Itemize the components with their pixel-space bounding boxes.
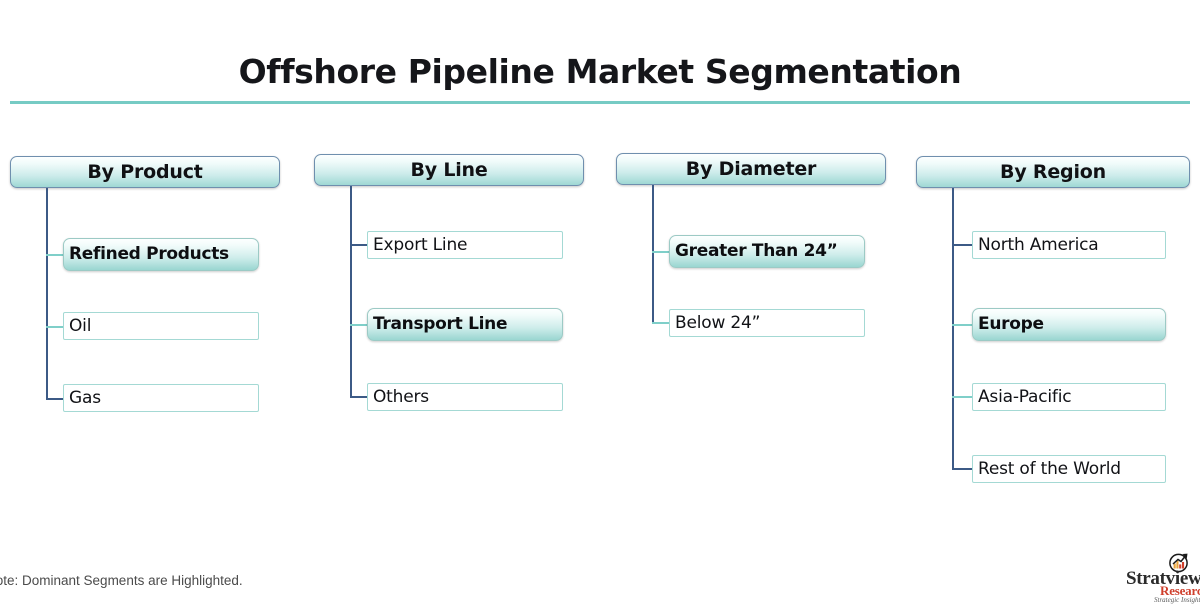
segment-item-label: Others xyxy=(368,389,429,406)
segmentation-column-by-region: By Region North America Europe Asia-Paci… xyxy=(906,0,1200,600)
branch-connector xyxy=(46,398,64,400)
segmentation-column-by-diameter: By Diameter Greater Than 24” Below 24” xyxy=(606,0,906,600)
column-header-label: By Line xyxy=(410,161,487,180)
segment-item-rest-of-the-world[interactable]: Rest of the World xyxy=(972,455,1166,483)
segment-item-label: Asia-Pacific xyxy=(973,389,1071,406)
branch-connector xyxy=(652,251,670,253)
branch-connector xyxy=(952,244,972,246)
column-header-label: By Product xyxy=(87,163,202,182)
segment-item-label: Refined Products xyxy=(64,246,229,263)
segment-item-label: Europe xyxy=(973,316,1044,333)
logo-tagline: Strategic Insight xyxy=(1154,596,1200,604)
segment-item-oil[interactable]: Oil xyxy=(63,312,259,340)
branch-connector xyxy=(952,324,972,326)
segment-item-label: Greater Than 24” xyxy=(670,243,838,260)
branch-connector xyxy=(46,254,64,256)
segment-item-export-line[interactable]: Export Line xyxy=(367,231,563,259)
segment-item-label: Rest of the World xyxy=(973,461,1121,478)
segment-item-label: Gas xyxy=(64,390,101,407)
branch-connector xyxy=(350,324,368,326)
branch-connector xyxy=(350,396,368,398)
column-header-by-line[interactable]: By Line xyxy=(314,154,584,186)
segment-item-greater-than-24[interactable]: Greater Than 24” xyxy=(669,235,865,268)
column-header-by-product[interactable]: By Product xyxy=(10,156,280,188)
branch-connector xyxy=(46,326,64,328)
column-header-label: By Region xyxy=(1000,163,1106,182)
brand-logo: Stratview Research Strategic Insight xyxy=(1126,552,1200,598)
footnote-note: Note: Dominant Segments are Highlighted. xyxy=(0,573,243,588)
branch-spine xyxy=(952,188,954,470)
segment-item-label: Transport Line xyxy=(368,316,507,333)
segment-item-label: Below 24” xyxy=(670,315,760,332)
segmentation-column-by-product: By Product Refined Products Oil Gas xyxy=(0,0,300,600)
segment-item-others[interactable]: Others xyxy=(367,383,563,411)
branch-connector xyxy=(350,244,368,246)
column-header-label: By Diameter xyxy=(686,160,816,179)
branch-connector xyxy=(952,468,972,470)
segment-item-north-america[interactable]: North America xyxy=(972,231,1166,259)
segment-item-label: North America xyxy=(973,237,1098,254)
segment-item-asia-pacific[interactable]: Asia-Pacific xyxy=(972,383,1166,411)
segment-item-europe[interactable]: Europe xyxy=(972,308,1166,341)
segment-item-below-24[interactable]: Below 24” xyxy=(669,309,865,337)
branch-spine xyxy=(350,186,352,397)
segment-item-gas[interactable]: Gas xyxy=(63,384,259,412)
segment-item-refined-products[interactable]: Refined Products xyxy=(63,238,259,271)
segment-item-transport-line[interactable]: Transport Line xyxy=(367,308,563,341)
branch-connector xyxy=(652,322,670,324)
column-header-by-diameter[interactable]: By Diameter xyxy=(616,153,886,185)
segment-item-label: Export Line xyxy=(368,237,467,254)
segment-item-label: Oil xyxy=(64,318,91,335)
branch-spine xyxy=(652,185,654,323)
branch-spine xyxy=(46,188,48,399)
column-header-by-region[interactable]: By Region xyxy=(916,156,1190,188)
segmentation-column-by-line: By Line Export Line Transport Line Other… xyxy=(306,0,606,600)
branch-connector xyxy=(952,396,972,398)
